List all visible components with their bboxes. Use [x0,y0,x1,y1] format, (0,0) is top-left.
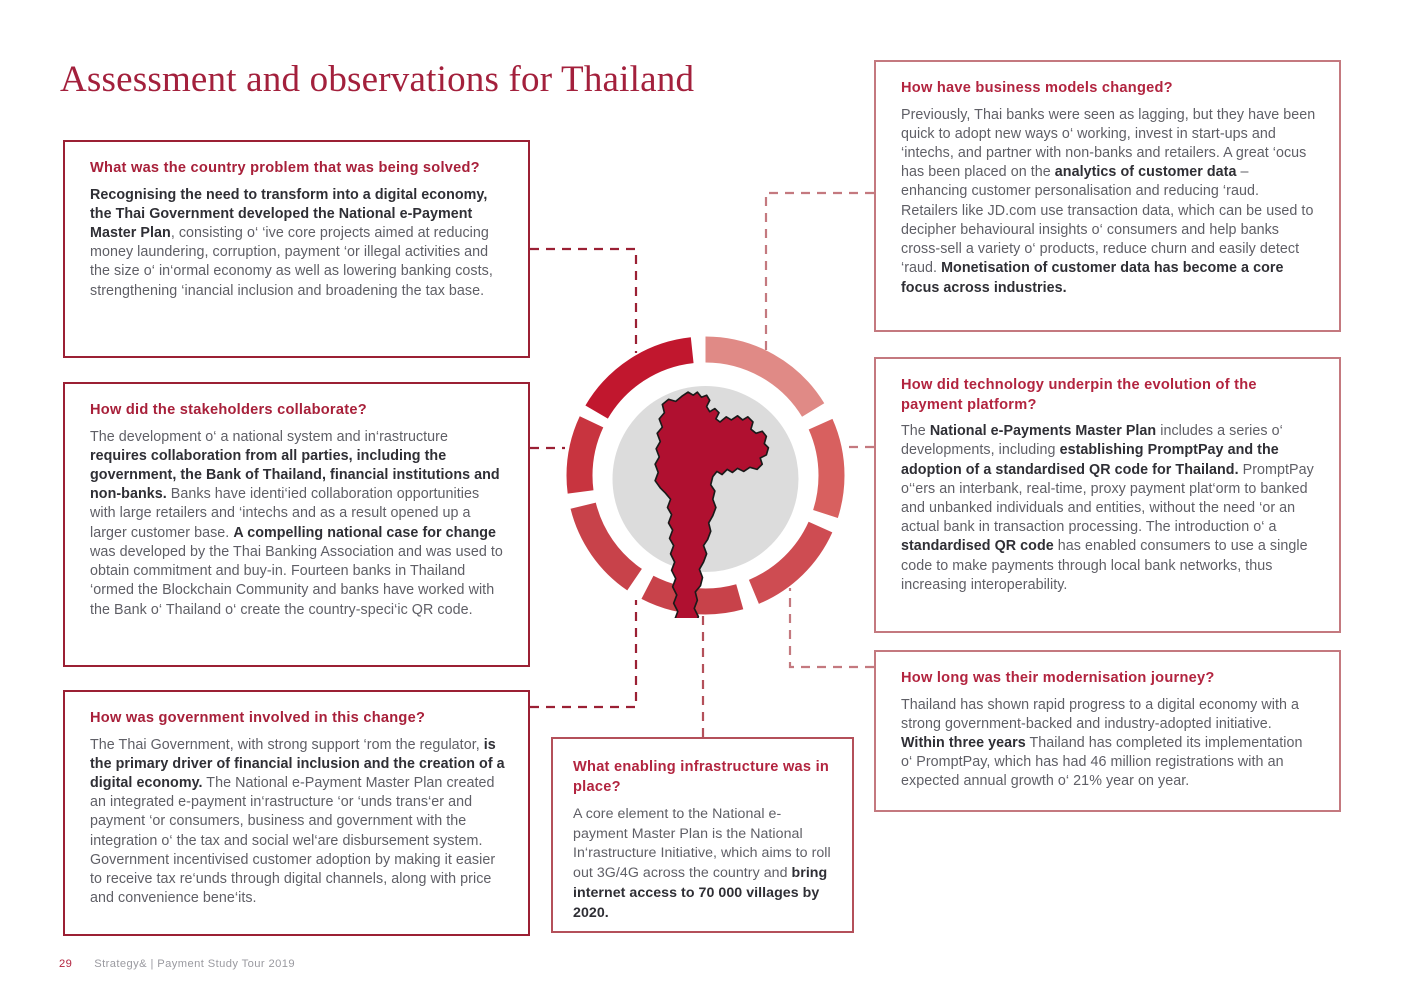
card-heading: How have business models changed? [901,79,1317,99]
card-body: Previously, Thai banks were seen as lagg… [901,106,1317,298]
slide-canvas: Assessment and observations for Thailand [0,0,1403,992]
card-body: The development o‘ a national system and… [90,428,506,620]
card-modernisation-journey[interactable]: How long was their modernisation journey… [874,650,1341,812]
card-heading: What was the country problem that was be… [90,159,506,179]
card-body: Thailand has shown rapid progress to a d… [901,696,1317,792]
card-heading: How did technology underpin the evolutio… [901,376,1317,415]
card-body: Recognising the need to transform into a… [90,186,506,301]
card-technology-platform[interactable]: How did technology underpin the evolutio… [874,357,1341,633]
card-heading: How did the stakeholders collaborate? [90,401,506,421]
card-heading: How long was their modernisation journey… [901,669,1317,689]
card-body: The National e-Payments Master Plan incl… [901,422,1317,595]
page-number: 29 [59,958,72,970]
card-government-involvement[interactable]: How was government involved in this chan… [63,690,530,936]
card-body: The Thai Government, with strong support… [90,736,506,909]
connector-business-models [766,193,874,353]
card-country-problem[interactable]: What was the country problem that was be… [63,140,530,358]
card-business-models[interactable]: How have business models changed? Previo… [874,60,1341,332]
footer-text: Strategy& | Payment Study Tour 2019 [94,958,295,970]
card-stakeholders[interactable]: How did the stakeholders collaborate? Th… [63,382,530,667]
card-body: A core element to the National e-payment… [573,805,832,924]
card-heading: How was government involved in this chan… [90,709,506,729]
footer: 29Strategy& | Payment Study Tour 2019 [59,958,295,970]
card-enabling-infrastructure[interactable]: What enabling infrastructure was in plac… [551,737,854,933]
card-heading: What enabling infrastructure was in plac… [573,758,832,798]
thailand-ring-map [563,333,848,618]
